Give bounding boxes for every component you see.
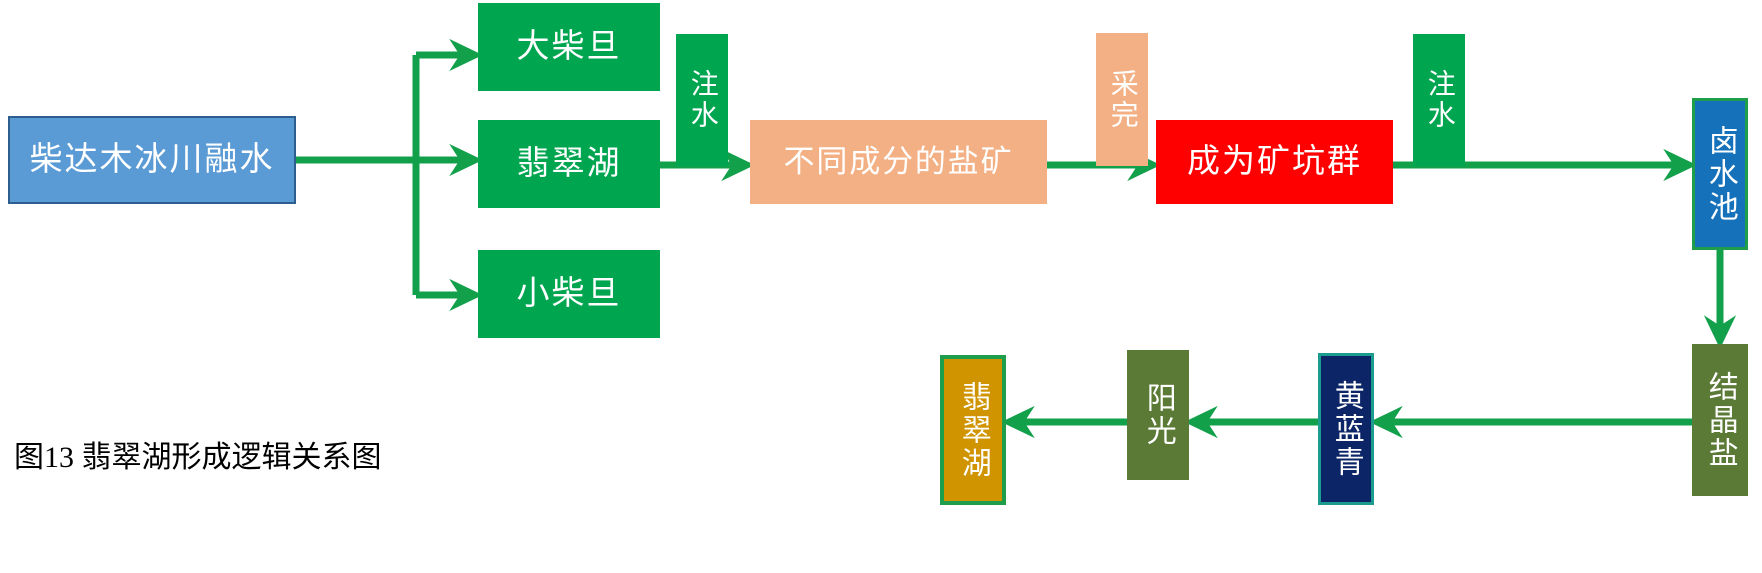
node-mine-pit-cluster[interactable]: 成为矿坑群 — [1156, 120, 1393, 204]
connector-layer — [0, 0, 1762, 573]
node-yellow-blue-cyan[interactable]: 黄蓝青 — [1318, 353, 1374, 505]
node-salt-mines[interactable]: 不同成分的盐矿 — [750, 120, 1047, 204]
label-mined-out[interactable]: 采完 — [1096, 33, 1148, 166]
flowchart-diagram: 柴达木冰川融水 大柴旦 翡翠湖 小柴旦 注水 不同成分的盐矿 采完 成为矿坑群 … — [0, 0, 1762, 573]
node-emerald-lake-result[interactable]: 翡翠湖 — [940, 355, 1006, 505]
node-sunlight[interactable]: 阳光 — [1127, 350, 1189, 480]
node-xiao-chaidan[interactable]: 小柴旦 — [478, 250, 660, 338]
connector-meltwater-to-branch — [296, 55, 416, 295]
node-crystallized-salt[interactable]: 结晶盐 — [1692, 344, 1748, 496]
figure-caption: 图13 翡翠湖形成逻辑关系图 — [14, 432, 382, 476]
node-da-chaidan[interactable]: 大柴旦 — [478, 3, 660, 91]
node-source-meltwater[interactable]: 柴达木冰川融水 — [8, 116, 296, 204]
node-brine-pool[interactable]: 卤水池 — [1692, 98, 1748, 250]
label-water-injection-1[interactable]: 注水 — [676, 34, 728, 166]
node-emerald-lake-top[interactable]: 翡翠湖 — [478, 120, 660, 208]
label-water-injection-2[interactable]: 注水 — [1413, 34, 1465, 166]
